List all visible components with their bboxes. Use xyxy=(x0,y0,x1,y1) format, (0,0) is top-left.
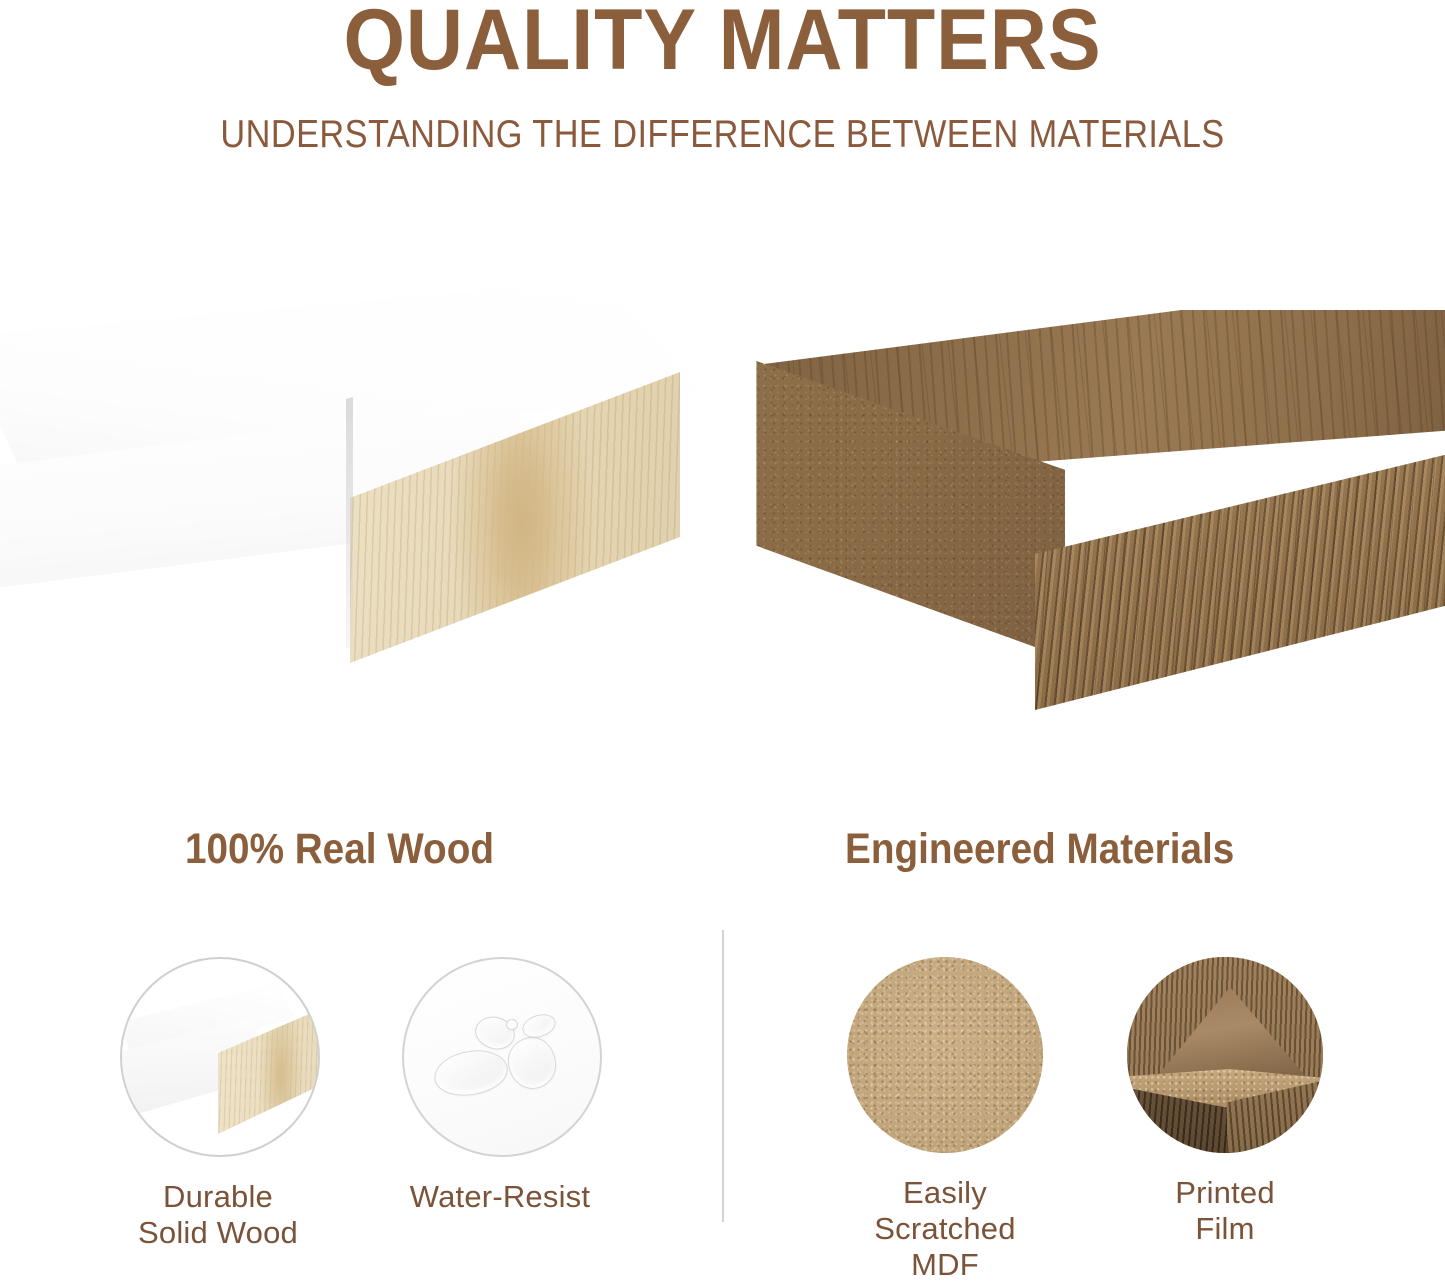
vertical-divider xyxy=(722,930,724,1222)
badge-caption: Water-Resist xyxy=(402,1179,598,1215)
badge-caption: Easily Scratched MDF xyxy=(847,1175,1043,1283)
water-droplet xyxy=(431,1046,510,1100)
page-subtitle: UNDERSTANDING THE DIFFERENCE BETWEEN MAT… xyxy=(87,112,1359,158)
section-heading-real-wood: 100% Real Wood xyxy=(185,824,494,874)
rustic-mdf-shelf-image xyxy=(735,310,1445,710)
water-droplet xyxy=(506,1019,518,1030)
hero-product-comparison xyxy=(0,250,1445,710)
badge-caption: Printed Film xyxy=(1127,1175,1323,1247)
shelf-edge-seam xyxy=(346,397,353,649)
feature-badge-printed-film: Printed Film xyxy=(1127,957,1323,1247)
textured-grain-front-face xyxy=(1035,450,1445,710)
solid-wood-shelf-icon xyxy=(120,957,320,1157)
water-droplet xyxy=(506,1035,558,1090)
mdf-particle-texture-icon xyxy=(847,957,1043,1153)
header: QUALITY MATTERS UNDERSTANDING THE DIFFER… xyxy=(0,0,1445,180)
feature-badge-easily-scratched-mdf: Easily Scratched MDF xyxy=(847,957,1043,1283)
feature-badge-water-resist: Water-Resist xyxy=(402,957,598,1215)
water-droplets-icon xyxy=(402,957,602,1157)
feature-badge-durable-solid-wood: Durable Solid Wood xyxy=(120,957,316,1251)
page-title: QUALITY MATTERS xyxy=(58,0,1387,86)
peeling-printed-film-icon xyxy=(1127,957,1323,1153)
badge-caption: Durable Solid Wood xyxy=(120,1179,316,1251)
white-solid-wood-shelf-image xyxy=(0,280,720,700)
section-heading-engineered-materials: Engineered Materials xyxy=(845,824,1234,874)
